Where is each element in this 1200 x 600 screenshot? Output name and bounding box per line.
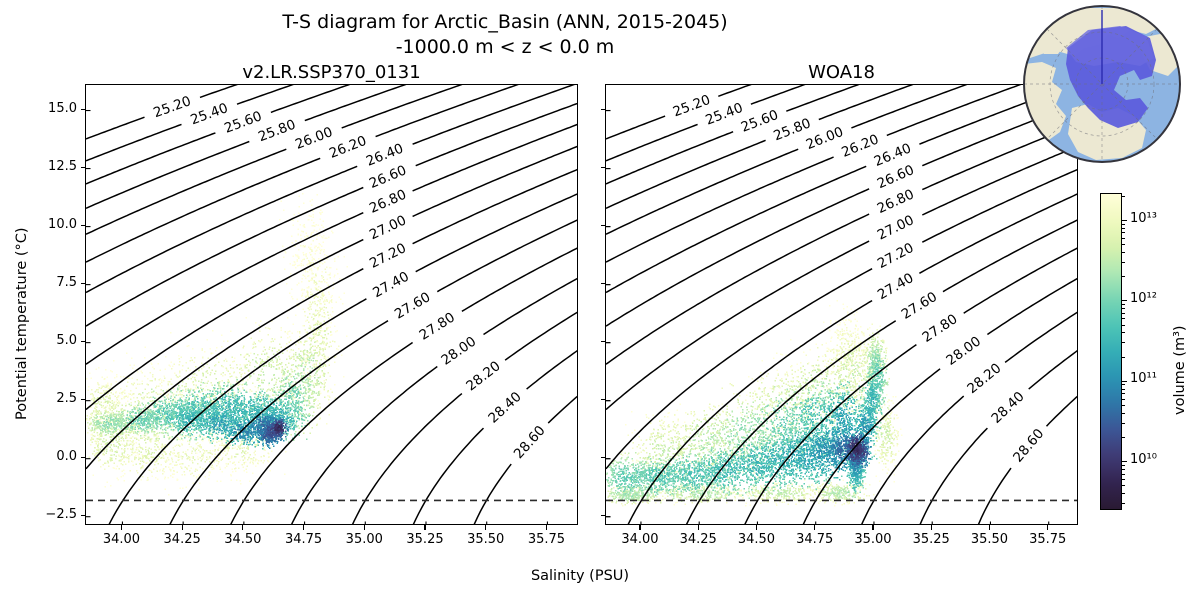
colorbar-minor-tick bbox=[1122, 405, 1125, 406]
x-tick-label: 34.25 bbox=[668, 532, 728, 547]
colorbar-minor-tick bbox=[1122, 196, 1125, 197]
colorbar-minor-tick bbox=[1122, 262, 1125, 263]
colorbar-minor-tick bbox=[1122, 357, 1125, 358]
contour-label: 27.80 bbox=[920, 311, 961, 346]
y-tick-label: 15.0 bbox=[27, 101, 77, 116]
scatter-cloud bbox=[606, 300, 903, 507]
y-tick-mark bbox=[601, 283, 606, 284]
figure-canvas: T-S diagram for Arctic_Basin (ANN, 2015-… bbox=[0, 0, 1200, 600]
x-tick-mark bbox=[639, 525, 640, 530]
y-tick-label: −2.5 bbox=[27, 507, 77, 522]
contour-line bbox=[89, 193, 578, 525]
colorbar-label: volume (m³) bbox=[1172, 325, 1188, 415]
colorbar-minor-tick bbox=[1122, 485, 1125, 486]
contour-label: 28.60 bbox=[1010, 426, 1047, 466]
y-tick-mark bbox=[81, 167, 86, 168]
x-tick-label: 35.50 bbox=[959, 532, 1019, 547]
panel-title-observations: WOA18 bbox=[605, 62, 1078, 83]
colorbar-minor-tick bbox=[1122, 304, 1125, 305]
x-tick-label: 35.75 bbox=[1018, 532, 1078, 547]
contour-label: 27.00 bbox=[367, 212, 409, 243]
contour-line bbox=[609, 193, 1078, 525]
colorbar-minor-tick bbox=[1122, 244, 1125, 245]
colorbar-minor-tick bbox=[1122, 332, 1125, 333]
colorbar-minor-tick bbox=[1122, 413, 1125, 414]
contour-line bbox=[786, 278, 1078, 525]
colorbar-minor-tick bbox=[1122, 342, 1125, 343]
x-tick-label: 35.25 bbox=[395, 532, 455, 547]
x-tick-mark bbox=[814, 525, 815, 530]
x-tick-label: 34.75 bbox=[274, 532, 334, 547]
y-tick-label: 7.5 bbox=[27, 275, 77, 290]
x-tick-mark bbox=[872, 525, 873, 530]
colorbar-minor-tick bbox=[1122, 384, 1125, 385]
colorbar-minor-tick bbox=[1122, 399, 1125, 400]
x-tick-label: 35.00 bbox=[843, 532, 903, 547]
x-tick-mark bbox=[303, 525, 304, 530]
x-tick-label: 35.50 bbox=[456, 532, 516, 547]
x-tick-mark bbox=[698, 525, 699, 530]
y-tick-mark bbox=[81, 225, 86, 226]
y-tick-label: 2.5 bbox=[27, 391, 77, 406]
y-tick-mark bbox=[601, 399, 606, 400]
colorbar-minor-tick bbox=[1122, 503, 1125, 504]
y-axis-label: Potential temperature (°C) bbox=[14, 227, 30, 420]
contour-label: 27.20 bbox=[367, 240, 409, 272]
colorbar-tick-label: 10¹² bbox=[1130, 291, 1157, 306]
colorbar-minor-tick bbox=[1122, 252, 1125, 253]
x-tick-mark bbox=[182, 525, 183, 530]
contour-line bbox=[151, 219, 578, 525]
colorbar-tick-label: 10¹³ bbox=[1130, 211, 1157, 226]
contour-label: 28.60 bbox=[511, 423, 549, 462]
colorbar-minor-tick bbox=[1122, 479, 1125, 480]
colorbar-minor-tick bbox=[1122, 228, 1125, 229]
x-tick-mark bbox=[1047, 525, 1048, 530]
axes-observations[interactable]: 25.2025.4025.6025.8026.0026.2026.4026.60… bbox=[605, 84, 1078, 525]
plot-area-observations: 25.2025.4025.6025.8026.0026.2026.4026.60… bbox=[606, 85, 1078, 525]
contour-label: 27.40 bbox=[875, 270, 916, 303]
x-tick-label: 35.75 bbox=[516, 532, 576, 547]
colorbar-tick-mark bbox=[1122, 300, 1127, 301]
y-tick-mark bbox=[81, 283, 86, 284]
y-tick-mark bbox=[601, 515, 606, 516]
y-tick-mark bbox=[601, 167, 606, 168]
contour-label: 28.20 bbox=[964, 360, 1004, 397]
contour-line bbox=[459, 395, 578, 525]
contour-label: 28.00 bbox=[438, 334, 479, 369]
figure-suptitle-line2: -1000.0 m < z < 0.0 m bbox=[0, 35, 1010, 60]
contour-label: 25.20 bbox=[151, 93, 193, 121]
x-tick-label: 35.25 bbox=[901, 532, 961, 547]
x-tick-mark bbox=[546, 525, 547, 530]
colorbar-tick-mark bbox=[1122, 461, 1127, 462]
x-tick-mark bbox=[931, 525, 932, 530]
colorbar-minor-tick bbox=[1122, 313, 1125, 314]
x-tick-mark bbox=[364, 525, 365, 530]
y-tick-label: 5.0 bbox=[27, 333, 77, 348]
x-tick-label: 35.00 bbox=[334, 532, 394, 547]
y-tick-mark bbox=[81, 341, 86, 342]
colorbar-tick-mark bbox=[1122, 220, 1127, 221]
x-tick-label: 34.50 bbox=[213, 532, 273, 547]
x-tick-label: 34.00 bbox=[610, 532, 670, 547]
x-tick-mark bbox=[989, 525, 990, 530]
colorbar-minor-tick bbox=[1122, 469, 1125, 470]
x-tick-mark bbox=[756, 525, 757, 530]
x-tick-label: 34.75 bbox=[785, 532, 845, 547]
y-tick-mark bbox=[81, 109, 86, 110]
y-tick-mark bbox=[601, 225, 606, 226]
contour-label: 27.20 bbox=[875, 240, 917, 272]
contour-line bbox=[606, 124, 1078, 364]
y-tick-label: 0.0 bbox=[27, 449, 77, 464]
colorbar-minor-tick bbox=[1122, 308, 1125, 309]
x-tick-label: 34.50 bbox=[726, 532, 786, 547]
panel-title-model: v2.LR.SSP370_0131 bbox=[85, 62, 578, 83]
colorbar-minor-tick bbox=[1122, 318, 1125, 319]
colorbar-minor-tick bbox=[1122, 224, 1125, 225]
y-tick-mark bbox=[81, 399, 86, 400]
colorbar-minor-tick bbox=[1122, 325, 1125, 326]
x-axis-label: Salinity (PSU) bbox=[300, 568, 860, 584]
x-tick-mark bbox=[485, 525, 486, 530]
axes-model[interactable]: 25.2025.4025.6025.8026.0026.2026.4026.60… bbox=[85, 84, 578, 525]
contour-label: 28.40 bbox=[485, 389, 524, 427]
contour-label: 28.00 bbox=[943, 333, 984, 369]
colorbar-minor-tick bbox=[1122, 437, 1125, 438]
colorbar-minor-tick bbox=[1122, 474, 1125, 475]
colorbar-minor-tick bbox=[1122, 393, 1125, 394]
colorbar-minor-tick bbox=[1122, 232, 1125, 233]
colorbar-minor-tick bbox=[1122, 276, 1125, 277]
y-tick-mark bbox=[81, 515, 86, 516]
y-tick-mark bbox=[601, 109, 606, 110]
y-tick-mark bbox=[81, 457, 86, 458]
contour-label: 27.60 bbox=[392, 289, 433, 322]
x-tick-mark bbox=[242, 525, 243, 530]
contour-label: 27.60 bbox=[899, 289, 940, 323]
plot-area-model: 25.2025.4025.6025.8026.0026.2026.4026.60… bbox=[86, 85, 578, 525]
figure-suptitle-line1: T-S diagram for Arctic_Basin (ANN, 2015-… bbox=[0, 10, 1010, 35]
colorbar-minor-tick bbox=[1122, 423, 1125, 424]
colorbar-minor-tick bbox=[1122, 389, 1125, 390]
x-tick-mark bbox=[424, 525, 425, 530]
inset-globe bbox=[1022, 4, 1182, 164]
arctic-region-inset[interactable] bbox=[1022, 4, 1182, 164]
colorbar-tick-mark bbox=[1122, 381, 1127, 382]
contour-label: 28.20 bbox=[463, 358, 503, 394]
colorbar-tick-label: 10¹¹ bbox=[1130, 371, 1157, 386]
contour-label: 28.40 bbox=[988, 389, 1027, 427]
y-tick-mark bbox=[601, 457, 606, 458]
y-tick-label: 10.0 bbox=[27, 217, 77, 232]
x-tick-label: 34.25 bbox=[152, 532, 212, 547]
x-tick-label: 34.00 bbox=[91, 532, 151, 547]
contour-label: 27.80 bbox=[417, 309, 458, 343]
colorbar-minor-tick bbox=[1122, 238, 1125, 239]
colorbar-gradient[interactable] bbox=[1100, 193, 1122, 510]
colorbar-tick-label: 10¹⁰ bbox=[1130, 452, 1157, 467]
colorbar-minor-tick bbox=[1122, 493, 1125, 494]
colorbar-minor-tick bbox=[1122, 465, 1125, 466]
x-tick-mark bbox=[121, 525, 122, 530]
y-tick-label: 12.5 bbox=[27, 159, 77, 174]
contour-label: 27.40 bbox=[370, 269, 412, 302]
y-tick-mark bbox=[601, 341, 606, 342]
